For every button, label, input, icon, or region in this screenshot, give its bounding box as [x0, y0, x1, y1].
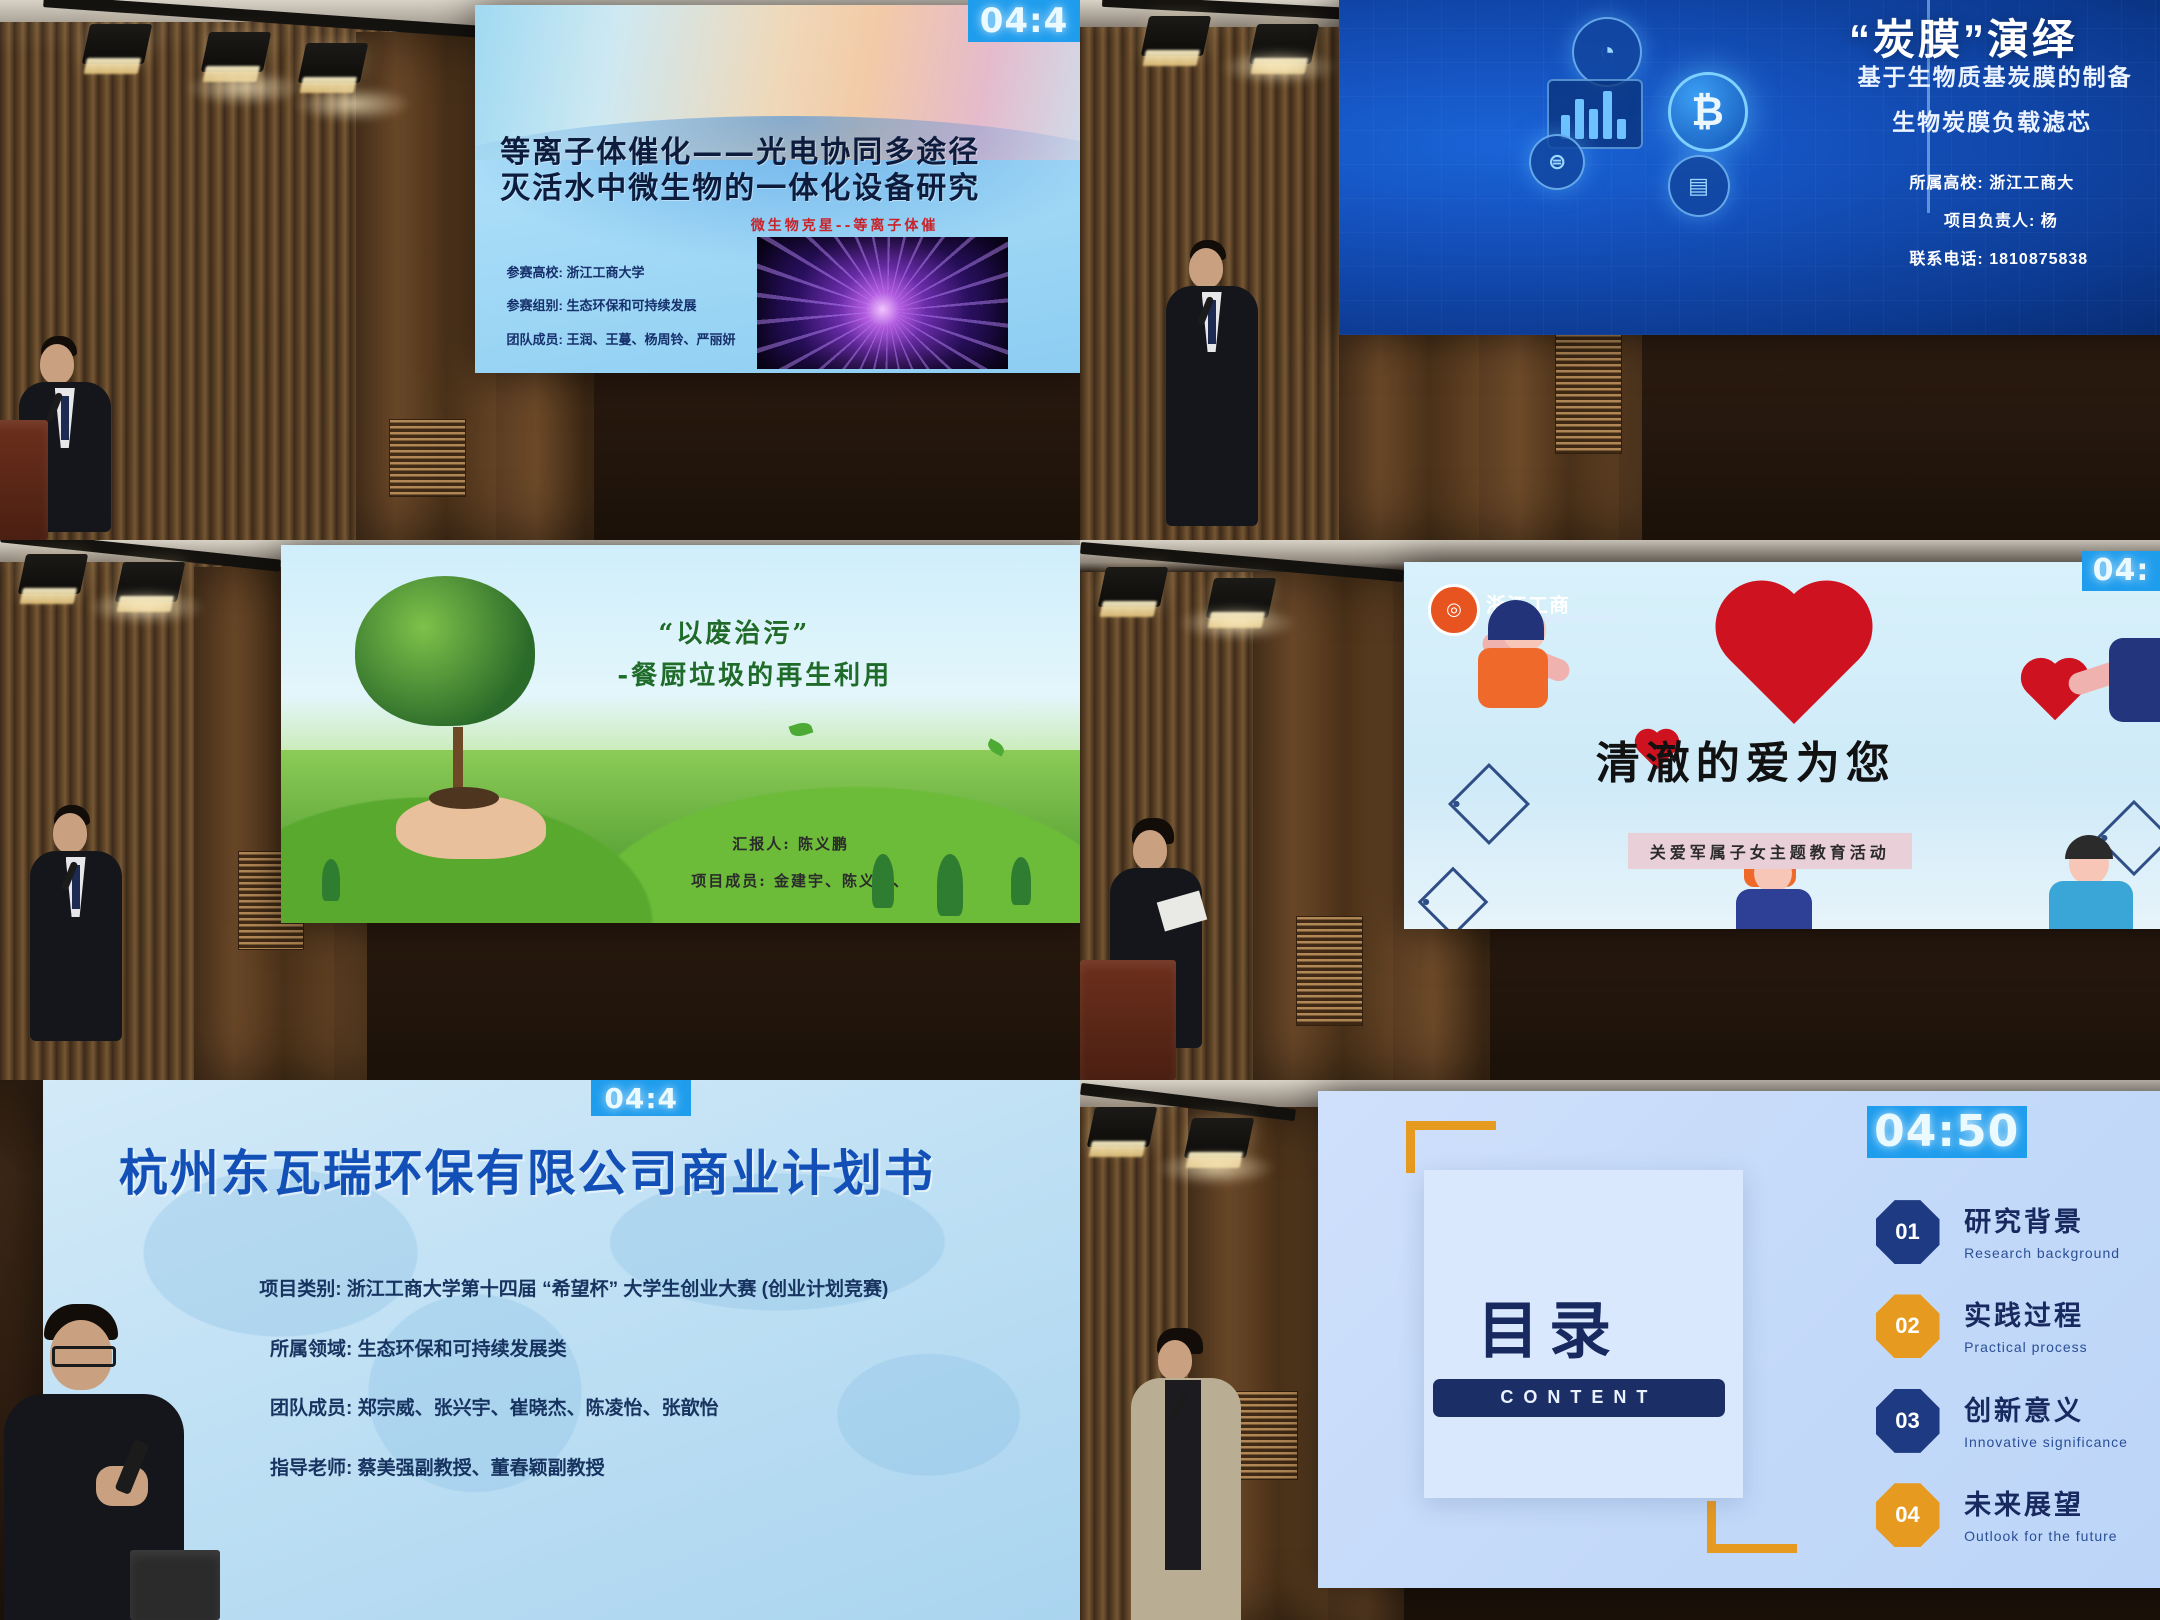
speaker-head — [1158, 1340, 1192, 1380]
stage-lamp — [1097, 567, 1168, 607]
projection-screen: “以废治污” -餐厨垃圾的再生利用 汇报人: 陈义鹏 项目成员: 金建宇、陈义鹏… — [281, 545, 1080, 923]
slide-subtitle-1: 基于生物质基炭膜的制备 — [1858, 58, 2133, 92]
value-advisors: 蔡美强副教授、董春颖副教授 — [358, 1458, 605, 1479]
panel-clear-love: ◎ 浙江工商 ZHEJIANG GONGSHANG UNIVERSITY — [1080, 540, 2160, 1080]
panel-plasma-catalysis: 等离子体催化——光电协同多途径 灭活水中微生物的一体化设备研究 微生物克星--等… — [0, 0, 1080, 540]
podium — [0, 420, 48, 540]
pie-chart-icon: ◔ — [1572, 17, 1642, 87]
orange-bracket-bottom-vert — [1707, 1501, 1716, 1553]
cypress-tree — [937, 854, 963, 916]
label-group: 参赛组别: — [507, 298, 563, 313]
slide-tagline-box: 关爱军属子女主题教育活动 — [1628, 833, 1912, 869]
value-members: 郑宗威、张兴宇、崔晓杰、陈凌怡、张歆怡 — [358, 1398, 719, 1419]
slide-row-field: 所属领域: 生态环保和可持续发展类 — [270, 1334, 567, 1361]
slide-title-line2: -餐厨垃圾的再生利用 — [617, 655, 892, 692]
projection-screen: 等离子体催化——光电协同多途径 灭活水中微生物的一体化设备研究 微生物克星--等… — [475, 5, 1080, 372]
slide-meta-leader: 项目负责人: 杨 — [1944, 207, 2058, 231]
projection-screen: ◔ ₿ ⊜ ▤ “炭膜”演绎 基于生物质基炭膜的制备 生物炭膜负载滤芯 所属高校… — [1339, 0, 2160, 335]
toc-label-en-01: Research background — [1964, 1245, 2120, 1261]
slide-title: 清澈的爱为您 — [1596, 727, 1896, 791]
orange-bracket-top — [1406, 1121, 1496, 1130]
illustration-body — [2049, 881, 2133, 929]
tree-trunk — [453, 727, 463, 791]
plasma-image — [757, 237, 1008, 369]
slide-title-line2: 灭活水中微生物的一体化设备研究 — [500, 163, 980, 207]
speaker-figure — [1156, 240, 1276, 540]
toc-label-en-02: Practical process — [1964, 1339, 2088, 1355]
label-school: 所属高校: — [1909, 175, 1983, 192]
stage-lamp — [82, 24, 153, 64]
slide-meta-school: 所属高校: 浙江工商大 — [1909, 169, 2074, 193]
value-presenter: 陈义鹏 — [798, 835, 849, 853]
value-category: 浙江工商大学第十四届 “希望杯” 大学生创业大赛 (创业计划竞赛) — [347, 1279, 889, 1300]
illustration-hair — [2065, 835, 2113, 859]
projection-screen: 目录 CONTENT 04:50 01 研究背景 Research backgr… — [1318, 1091, 2160, 1588]
mulu-title: 目录 — [1477, 1280, 1621, 1370]
speaker-head — [53, 813, 87, 853]
toc-label-cn-04: 未来展望 — [1964, 1483, 2084, 1522]
countdown-timer: 04: — [2082, 551, 2160, 591]
stage-lamp — [1087, 1107, 1158, 1147]
big-heart-icon — [1729, 594, 1859, 724]
value-leader: 杨 — [2041, 213, 2058, 230]
projection-screen: ◎ 浙江工商 ZHEJIANG GONGSHANG UNIVERSITY — [1404, 562, 2160, 929]
toc-number-02: 02 — [1876, 1294, 1940, 1358]
wall-vent — [1555, 333, 1622, 454]
illustration-body — [1736, 889, 1812, 929]
toc-number-01: 01 — [1876, 1200, 1940, 1264]
toc-number-04: 04 — [1876, 1483, 1940, 1547]
speaker-figure — [22, 803, 142, 1053]
toc-number-03: 03 — [1876, 1389, 1940, 1453]
lamp-glow — [1177, 605, 1297, 641]
person-illustration-right — [2067, 620, 2160, 750]
heart-outline-icon — [1418, 867, 1489, 929]
speaker-head — [1133, 830, 1167, 870]
countdown-timer: 04:4 — [968, 0, 1080, 42]
slide-info-presenter: 汇报人: 陈义鹏 — [732, 833, 849, 854]
podium — [1080, 960, 1176, 1080]
toc-label-cn-02: 实践过程 — [1964, 1294, 2084, 1333]
speaker-body — [1166, 286, 1258, 526]
floating-leaf — [788, 720, 813, 739]
label-members: 团队成员: — [507, 332, 563, 347]
lamp-glow — [1156, 1150, 1276, 1186]
lamp-glow — [184, 70, 304, 106]
stage-lamp — [298, 43, 369, 83]
speaker-body — [30, 851, 122, 1041]
value-members: 王润、王蔓、杨周铃、严丽妍 — [566, 332, 735, 347]
soil — [429, 787, 499, 809]
label-members: 团队成员: — [270, 1398, 352, 1419]
slide-info-school: 参赛高校: 浙江工商大学 — [507, 262, 645, 281]
stage-lamp — [1141, 16, 1212, 56]
speaker-inner-jacket — [1165, 1380, 1201, 1570]
speaker-head — [40, 344, 74, 384]
glasses-icon — [52, 1346, 116, 1367]
label-category: 项目类别: — [259, 1279, 341, 1300]
bitcoin-icon: ₿ — [1668, 72, 1748, 152]
heart-tree-graphic — [355, 576, 535, 726]
toc-label-en-03: Innovative significance — [1964, 1434, 2128, 1450]
toc-label-en-04: Outlook for the future — [1964, 1528, 2118, 1544]
heart-outline-icon — [1448, 763, 1530, 845]
illustration-body — [1478, 648, 1548, 708]
cypress-tree — [872, 854, 894, 908]
speaker-tie — [61, 396, 69, 440]
stage-lamp — [201, 32, 272, 72]
wall-vent — [1296, 916, 1363, 1026]
toc-label-cn-03: 创新意义 — [1964, 1389, 2084, 1428]
label-members: 项目成员: — [691, 872, 767, 890]
person-illustration-bottom-right — [2025, 833, 2155, 929]
lamp-glow — [1220, 49, 1340, 85]
countdown-timer: 04:50 — [1867, 1106, 2027, 1158]
document-icon: ▤ — [1668, 155, 1730, 217]
slide-title: 杭州东瓦瑞环保有限公司商业计划书 — [119, 1134, 935, 1205]
toc-label-cn-01: 研究背景 — [1964, 1200, 2084, 1239]
panel-business-plan: 杭州东瓦瑞环保有限公司商业计划书 项目类别: 浙江工商大学第十四届 “希望杯” … — [0, 1080, 1080, 1620]
content-label-pill: CONTENT — [1433, 1379, 1725, 1417]
value-phone: 1810875838 — [1989, 251, 2088, 268]
label-leader: 项目负责人: — [1944, 213, 2035, 230]
lamp-glow — [86, 589, 206, 625]
speaker-head — [1189, 248, 1223, 288]
slide-row-category: 项目类别: 浙江工商大学第十四届 “希望杯” 大学生创业大赛 (创业计划竞赛) — [259, 1274, 888, 1301]
label-phone: 联系电话: — [1909, 251, 1983, 268]
slide-title-line1: “以废治污” — [658, 613, 810, 650]
orange-bracket-top-vert — [1406, 1121, 1415, 1173]
slide-info-members: 团队成员: 王润、王蔓、杨周铃、严丽妍 — [507, 329, 736, 348]
cypress-tree — [322, 859, 340, 901]
panel-kitchen-waste: “以废治污” -餐厨垃圾的再生利用 汇报人: 陈义鹏 项目成员: 金建宇、陈义鹏… — [0, 540, 1080, 1080]
slide-subtitle-2: 生物炭膜负载滤芯 — [1892, 103, 2092, 137]
projection-screen: 杭州东瓦瑞环保有限公司商业计划书 项目类别: 浙江工商大学第十四届 “希望杯” … — [43, 1080, 1080, 1620]
illustration-hair — [1488, 600, 1544, 640]
countdown-timer: 04:4 — [591, 1080, 691, 1116]
value-school: 浙江工商大学 — [566, 265, 644, 280]
cypress-tree — [1011, 857, 1031, 905]
label-school: 参赛高校: — [507, 265, 563, 280]
slide-meta-phone: 联系电话: 1810875838 — [1909, 245, 2088, 269]
value-school: 浙江工商大 — [1989, 175, 2074, 192]
orange-bracket-bottom — [1707, 1544, 1797, 1553]
podium — [130, 1550, 220, 1620]
value-group: 生态环保和可持续发展 — [566, 298, 696, 313]
label-field: 所属领域: — [270, 1339, 352, 1360]
illustration-body — [2109, 638, 2160, 722]
photo-collage-grid: 等离子体催化——光电协同多途径 灭活水中微生物的一体化设备研究 微生物克星--等… — [0, 0, 2160, 1620]
panel-carbon-membrane: ◔ ₿ ⊜ ▤ “炭膜”演绎 基于生物质基炭膜的制备 生物炭膜负载滤芯 所属高校… — [1080, 0, 2160, 540]
label-presenter: 汇报人: — [732, 835, 791, 853]
slide-red-caption: 微生物克星--等离子体催 — [751, 215, 939, 235]
panel-content-toc: 目录 CONTENT 04:50 01 研究背景 Research backgr… — [1080, 1080, 2160, 1620]
person-illustration-left — [1452, 598, 1582, 718]
slide-tagline: 关爱军属子女主题教育活动 — [1650, 843, 1890, 862]
value-field: 生态环保和可持续发展类 — [358, 1339, 567, 1360]
label-advisors: 指导老师: — [270, 1458, 352, 1479]
stage-lamp — [17, 554, 88, 594]
speaker-figure — [1123, 1320, 1253, 1620]
wall-vent — [389, 419, 467, 497]
slide-row-advisors: 指导老师: 蔡美强副教授、董春颖副教授 — [270, 1453, 605, 1480]
slide-row-members: 团队成员: 郑宗威、张兴宇、崔晓杰、陈凌怡、张歆怡 — [270, 1393, 719, 1420]
slide-info-group: 参赛组别: 生态环保和可持续发展 — [507, 295, 697, 314]
